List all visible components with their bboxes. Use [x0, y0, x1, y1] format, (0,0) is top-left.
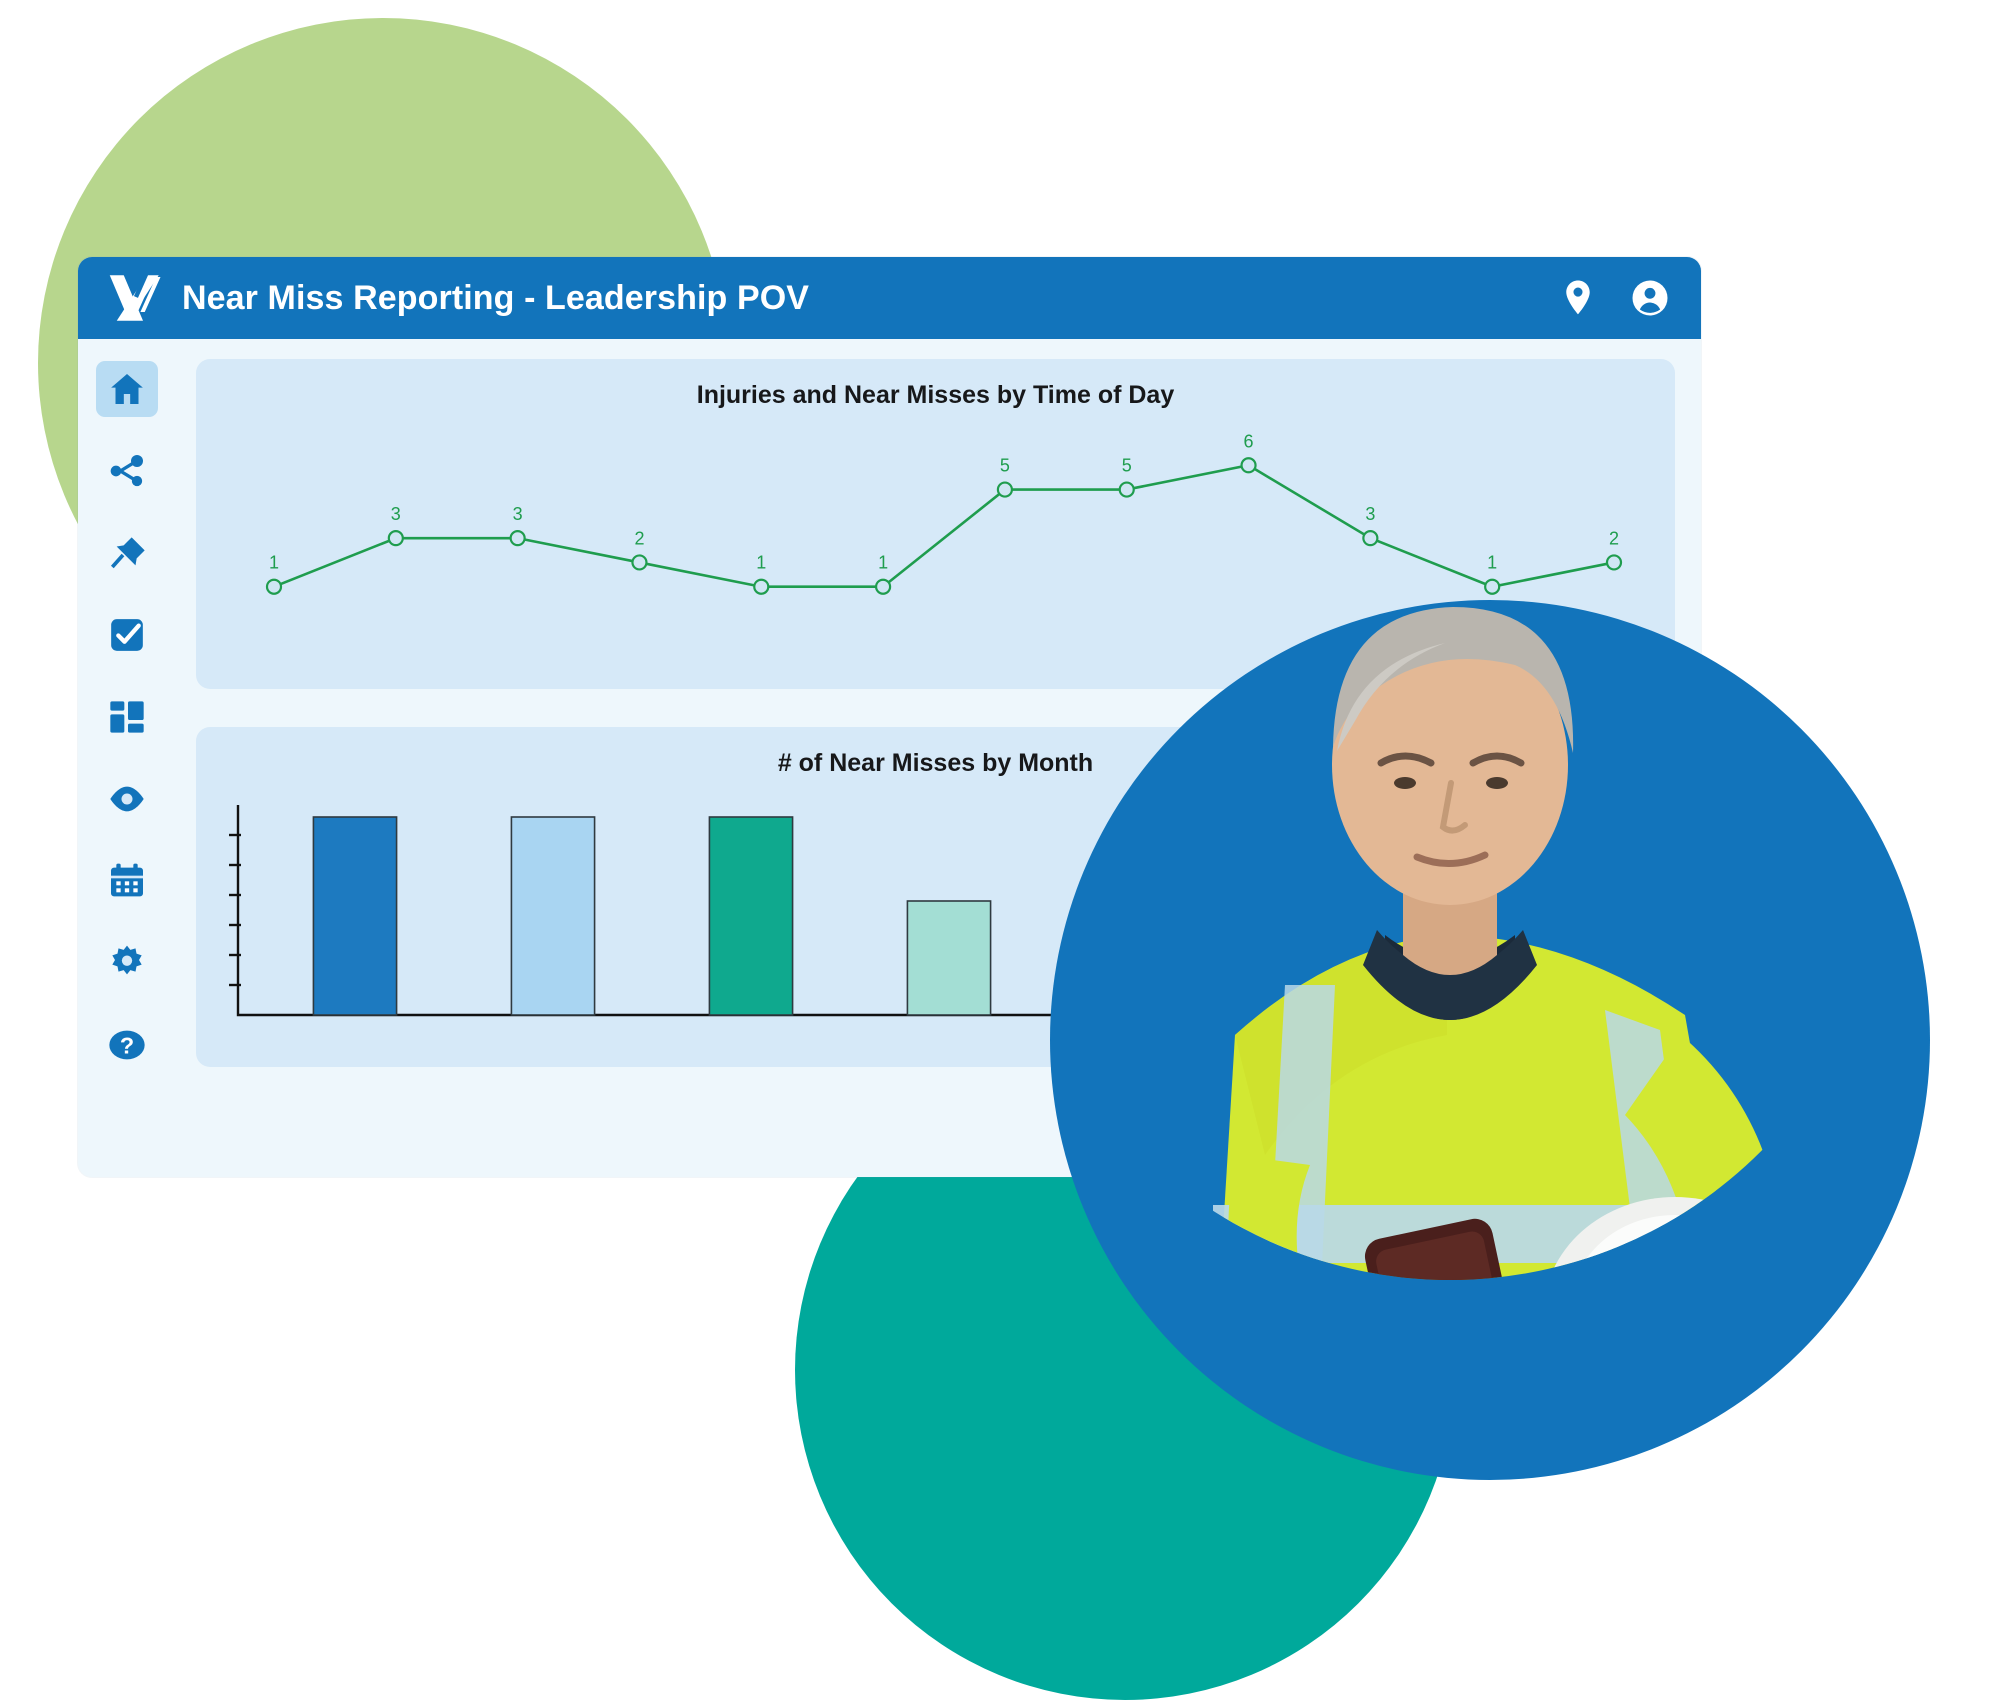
line-data-label: 5 — [1000, 456, 1010, 476]
line-data-label: 3 — [513, 504, 523, 524]
line-data-point[interactable] — [1120, 483, 1134, 497]
title-bar: Near Miss Reporting - Leadership POV — [78, 257, 1701, 339]
dashboard-icon — [107, 697, 147, 737]
line-data-label: 5 — [1122, 456, 1132, 476]
worker-photo — [1085, 515, 1895, 1525]
bar[interactable] — [709, 817, 792, 1015]
location-pin-icon[interactable] — [1557, 277, 1599, 319]
bar[interactable] — [313, 817, 396, 1015]
sidebar-item-calendar[interactable] — [96, 853, 158, 909]
svg-text:?: ? — [120, 1033, 134, 1059]
sidebar-item-observations[interactable] — [96, 771, 158, 827]
user-account-icon[interactable] — [1629, 277, 1671, 319]
page-title: Near Miss Reporting - Leadership POV — [182, 279, 809, 318]
line-data-point[interactable] — [389, 531, 403, 545]
line-data-point[interactable] — [876, 580, 890, 594]
line-data-label: 1 — [269, 553, 279, 573]
sidebar-item-share[interactable] — [96, 443, 158, 499]
line-data-point[interactable] — [267, 580, 281, 594]
line-data-point[interactable] — [1242, 458, 1256, 472]
line-data-point[interactable] — [632, 555, 646, 569]
x-logo-icon — [108, 270, 164, 326]
share-icon — [107, 451, 147, 491]
line-data-point[interactable] — [754, 580, 768, 594]
titlebar-actions — [1557, 277, 1671, 319]
bar[interactable] — [511, 817, 594, 1015]
sidebar-item-settings[interactable] — [96, 935, 158, 991]
line-data-label: 2 — [634, 528, 644, 548]
line-data-label: 3 — [391, 504, 401, 524]
calendar-icon — [107, 861, 147, 901]
checkbox-icon — [107, 615, 147, 655]
home-icon — [107, 369, 147, 409]
line-data-point[interactable] — [511, 531, 525, 545]
sidebar-item-help[interactable]: ? — [96, 1017, 158, 1073]
sidebar: ? — [78, 339, 176, 1177]
line-data-label: 1 — [878, 553, 888, 573]
line-data-label: 1 — [756, 553, 766, 573]
sidebar-item-pin[interactable] — [96, 525, 158, 581]
gear-icon — [107, 943, 147, 983]
sidebar-item-dashboard[interactable] — [96, 689, 158, 745]
help-icon: ? — [107, 1025, 147, 1065]
line-data-point[interactable] — [998, 483, 1012, 497]
pin-icon — [107, 533, 147, 573]
sidebar-item-home[interactable] — [96, 361, 158, 417]
eye-icon — [107, 779, 147, 819]
line-data-label: 6 — [1244, 431, 1254, 451]
bar[interactable] — [907, 901, 990, 1015]
sidebar-item-tasks[interactable] — [96, 607, 158, 663]
